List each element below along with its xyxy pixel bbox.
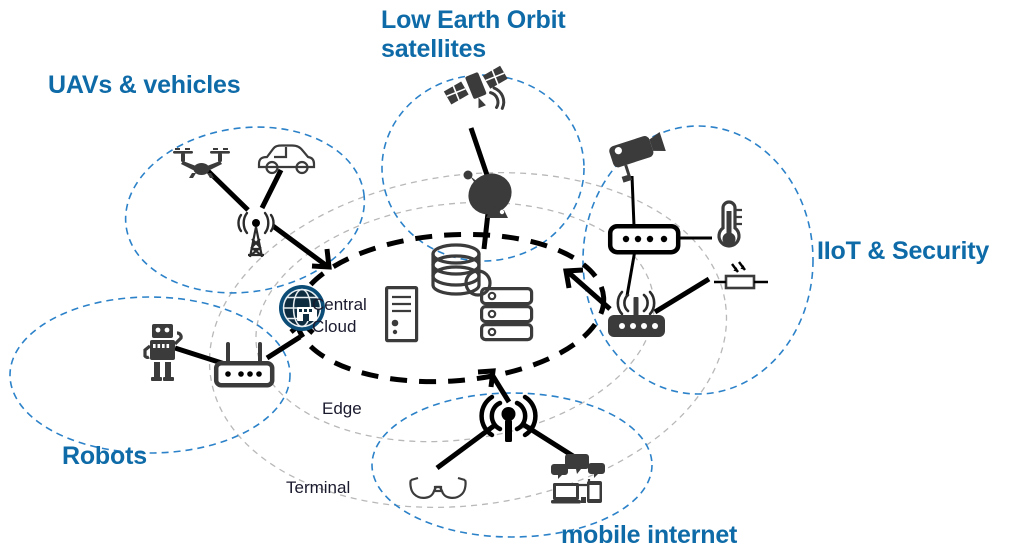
connected-devices-icon[interactable]: [551, 454, 605, 504]
satellite-dish-icon[interactable]: [461, 166, 519, 222]
wifi-router-icon[interactable]: [608, 292, 665, 337]
server-rack-icon[interactable]: [482, 289, 532, 340]
zone-ellipses: [188, 140, 749, 539]
leo-satellites-icons: [442, 62, 519, 221]
central-cloud-label-line2: Cloud: [312, 317, 356, 336]
drone-icon[interactable]: [173, 148, 230, 178]
text-labels: UAVs & vehicles Low Earth Orbit satellit…: [48, 6, 989, 549]
network-architecture-diagram: UAVs & vehicles Low Earth Orbit satellit…: [0, 0, 1035, 552]
link-car-to-tower: [262, 170, 281, 208]
diagram-canvas: UAVs & vehicles Low Earth Orbit satellit…: [0, 0, 1035, 552]
link-drone-to-tower: [207, 170, 248, 210]
cluster-title-mobile-internet: mobile internet: [561, 521, 738, 549]
cluster-title-robots: Robots: [62, 442, 147, 470]
central-cloud-label-line1: Central: [312, 295, 367, 314]
link-satellite-to-dish: [471, 128, 488, 178]
mobile-internet-icons: [410, 397, 605, 504]
wifi-router-antenna-icon[interactable]: [216, 342, 272, 385]
link-router-to-globe: [267, 337, 300, 358]
robots-icons: [145, 324, 272, 385]
security-camera-icon[interactable]: [608, 131, 671, 184]
satellite-icon[interactable]: [442, 62, 517, 126]
thermometer-icon[interactable]: [719, 202, 742, 246]
robot-icon[interactable]: [145, 324, 181, 381]
cell-tower-icon[interactable]: [238, 213, 273, 257]
ar-glasses-icon[interactable]: [410, 478, 465, 498]
zone-label-edge: Edge: [322, 399, 362, 418]
wireless-access-point-icon[interactable]: [482, 397, 536, 442]
gateway-switch-icon[interactable]: [610, 226, 678, 252]
cluster-title-uavs-vehicles: UAVs & vehicles: [48, 71, 240, 99]
link-router-to-sensor: [655, 279, 709, 312]
link-camera-to-gateway: [632, 176, 634, 226]
link-dish-to-database: [484, 213, 488, 249]
cluster-title-leo-satellites-line1: Low Earth Orbit: [381, 6, 566, 34]
link-gateway-to-router: [627, 250, 635, 296]
cluster-title-leo-satellites-line2: satellites: [381, 35, 486, 63]
cluster-title-iiot-security: IIoT & Security: [817, 237, 989, 265]
terminal-zone-ellipse: [188, 140, 749, 539]
zone-label-terminal: Terminal: [286, 478, 350, 497]
pc-tower-icon[interactable]: [387, 288, 417, 341]
photo-sensor-icon[interactable]: [714, 262, 768, 288]
car-icon[interactable]: [259, 146, 314, 174]
